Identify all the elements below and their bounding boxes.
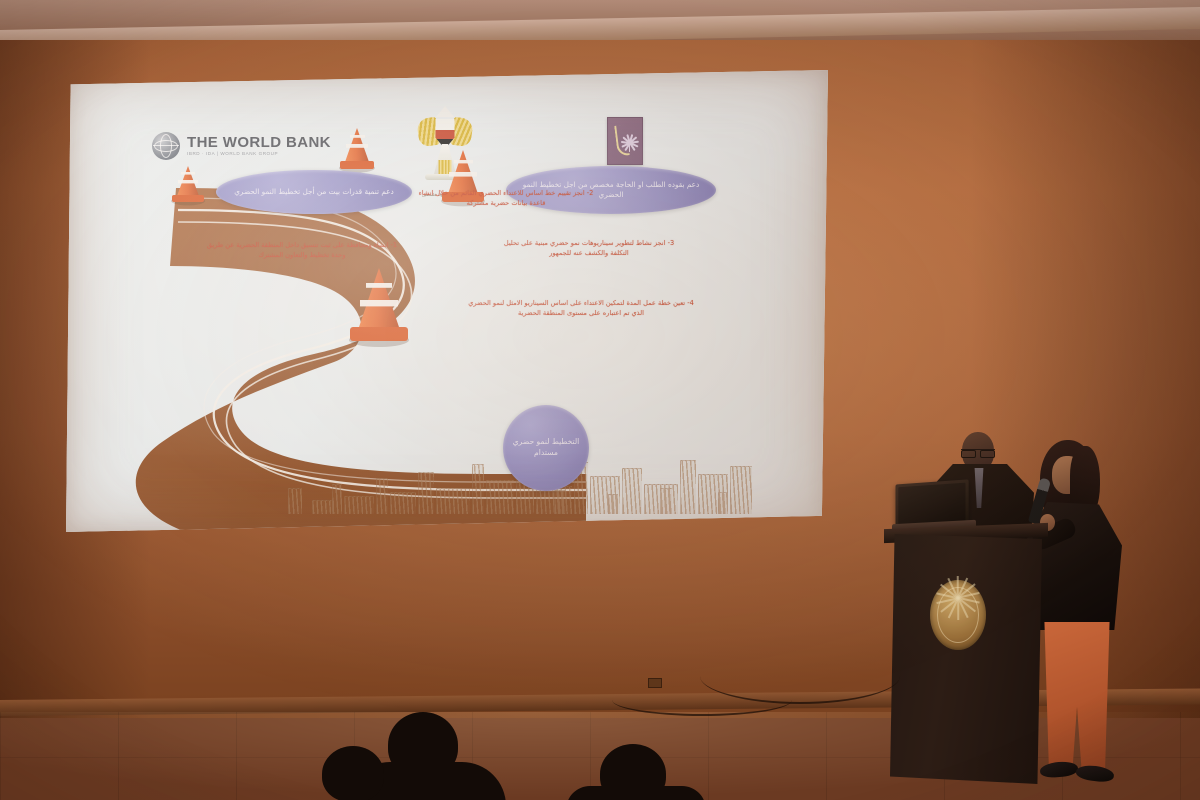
- bubble-goal: التخطيط لنمو حضري مستدام: [503, 405, 589, 491]
- skyline-building: [332, 484, 342, 514]
- skyline-building: [554, 490, 566, 514]
- stage-podium-area: [878, 430, 1148, 790]
- bubble-goal-text: التخطيط لنمو حضري مستدام: [512, 437, 580, 459]
- skyline-building: [486, 480, 514, 514]
- milestone-note-3: 3- انجز نشاط لتطوير سيناريوهات نمو حضري …: [496, 238, 682, 258]
- milestone-note-2: 2- انجز تقييم خط اساس للاعتداء الحضري ال…: [411, 188, 601, 208]
- milestone-1-number: 1: [393, 241, 397, 249]
- milestone-3-text: انجز نشاط لتطوير سيناريوهات نمو حضري مبن…: [504, 239, 666, 257]
- skyline-building: [312, 500, 334, 514]
- skyline-building: [622, 468, 642, 514]
- skyline-building: [730, 466, 752, 514]
- wall-outlet: [648, 678, 662, 688]
- skyline-building: [660, 488, 672, 514]
- conference-room-scene: THE WORLD BANK IBRD · IDA | WORLD BANK G…: [0, 0, 1200, 800]
- milestone-2-number: 2: [589, 189, 593, 197]
- skyline-building: [718, 492, 728, 514]
- bubble-supply-side: دعم تنمية قدرات بيت من أجل تخطيط النمو ا…: [216, 170, 412, 214]
- skyline-building: [680, 460, 696, 514]
- presentation-slide: THE WORLD BANK IBRD · IDA | WORLD BANK G…: [66, 70, 828, 532]
- woman-shoe-left: [1039, 760, 1078, 778]
- skyline-building: [436, 488, 470, 514]
- milestone-1-text: انشاء ومحافظة على ثبت تنسيق داخل المنطقة…: [207, 241, 388, 259]
- traffic-cone-1: [171, 166, 205, 205]
- milestone-note-1: 1- انشاء ومحافظة على ثبت تنسيق داخل المن…: [204, 240, 400, 260]
- audience-shoulders: [566, 786, 706, 800]
- skyline-building: [418, 472, 434, 514]
- skyline-building: [390, 492, 416, 514]
- institution-seal: [930, 580, 986, 650]
- podium: [890, 534, 1042, 784]
- woman-shoe-right: [1075, 764, 1115, 784]
- milestone-3-number: 3: [670, 239, 674, 247]
- woman-trousers: [1040, 622, 1114, 768]
- skyline-building: [608, 494, 618, 514]
- audience-head: [322, 746, 384, 800]
- skyline-building: [376, 478, 388, 514]
- skyline-building: [344, 496, 374, 514]
- glasses-icon: [961, 449, 995, 455]
- projection-screen: THE WORLD BANK IBRD · IDA | WORLD BANK G…: [66, 70, 828, 532]
- milestone-2-text: انجز تقييم خط اساس للاعتداء الحضري القائ…: [419, 189, 585, 207]
- skyline-building: [288, 488, 302, 514]
- milestone-4-text: تعين خطة عمل المدة لتمكين الاعتداء على ا…: [468, 299, 685, 317]
- milestone-note-4: 4- تعين خطة عمل المدة لتمكين الاعتداء عل…: [466, 298, 696, 318]
- traffic-cone-2: [339, 128, 375, 173]
- laptop-screen: [898, 483, 965, 525]
- bubble-supply-side-text: دعم تنمية قدرات بيت من أجل تخطيط النمو ا…: [234, 187, 394, 197]
- milestone-4-number: 4: [690, 299, 694, 307]
- skyline-building: [472, 464, 484, 514]
